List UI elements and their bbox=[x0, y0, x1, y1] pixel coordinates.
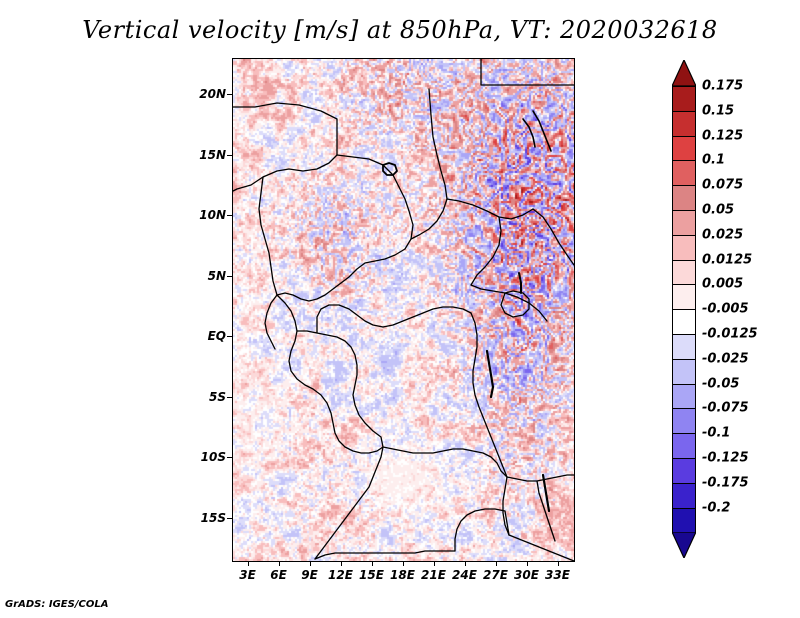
x-axis-tick-mark bbox=[465, 561, 466, 566]
grads-plot-page: Vertical velocity [m/s] at 850hPa, VT: 2… bbox=[0, 0, 800, 618]
colorbar-tick-label: 0.1 bbox=[702, 153, 725, 168]
colorbar-tick-label: -0.125 bbox=[702, 451, 749, 466]
y-axis-tick-mark bbox=[227, 276, 232, 277]
colorbar-tick-label: -0.0125 bbox=[702, 327, 758, 342]
colorbar-band bbox=[672, 334, 696, 360]
y-axis-tick-label: 5N bbox=[188, 269, 226, 283]
y-axis-tick-label: 5S bbox=[188, 390, 226, 404]
colorbar-tick-label: -0.175 bbox=[702, 475, 749, 490]
colorbar-band bbox=[672, 384, 696, 410]
colorbar-band bbox=[672, 185, 696, 211]
colorbar-band bbox=[672, 408, 696, 434]
x-axis-tick-label: 18E bbox=[390, 568, 415, 582]
colorbar-band bbox=[672, 260, 696, 286]
y-axis-tick-mark bbox=[227, 336, 232, 337]
y-axis-tick-mark bbox=[227, 155, 232, 156]
y-axis-tick-mark bbox=[227, 397, 232, 398]
colorbar-band bbox=[672, 86, 696, 112]
colorbar-band bbox=[672, 508, 696, 534]
colorbar-tick-label: 0.175 bbox=[702, 79, 743, 94]
page-title: Vertical velocity [m/s] at 850hPa, VT: 2… bbox=[0, 16, 800, 44]
x-axis-tick-label: 6E bbox=[270, 568, 287, 582]
x-axis-tick-label: 27E bbox=[483, 568, 508, 582]
colorbar-band bbox=[672, 359, 696, 385]
colorbar-bottom-arrow bbox=[672, 532, 696, 558]
colorbar-tick-label: -0.1 bbox=[702, 426, 730, 441]
attribution-footer: GrADS: IGES/COLA bbox=[5, 599, 108, 610]
colorbar-band bbox=[672, 111, 696, 137]
x-axis-tick-label: 15E bbox=[359, 568, 384, 582]
y-axis-tick-mark bbox=[227, 94, 232, 95]
x-axis-tick-label: 21E bbox=[421, 568, 446, 582]
colorbar-tick-label: 0.05 bbox=[702, 203, 734, 218]
country-borders-overlay bbox=[233, 59, 574, 561]
x-axis-tick-mark bbox=[310, 561, 311, 566]
colorbar-tick-label: 0.15 bbox=[702, 103, 734, 118]
colorbar-tick-label: 0.075 bbox=[702, 178, 743, 193]
y-axis-tick-mark bbox=[227, 215, 232, 216]
x-axis-tick-mark bbox=[527, 561, 528, 566]
colorbar-tick-label: -0.005 bbox=[702, 302, 749, 317]
colorbar-band bbox=[672, 433, 696, 459]
x-axis-tick-label: 12E bbox=[328, 568, 353, 582]
colorbar-tick-label: 0.0125 bbox=[702, 252, 752, 267]
colorbar-band bbox=[672, 210, 696, 236]
colorbar-band bbox=[672, 309, 696, 335]
x-axis-tick-label: 9E bbox=[301, 568, 318, 582]
x-axis-tick-mark bbox=[279, 561, 280, 566]
y-axis-tick-mark bbox=[227, 457, 232, 458]
colorbar-tick-label: -0.075 bbox=[702, 401, 749, 416]
x-axis-tick-mark bbox=[558, 561, 559, 566]
y-axis-tick-label: EQ bbox=[188, 329, 226, 343]
x-axis-tick-mark bbox=[248, 561, 249, 566]
y-axis-tick-label: 15N bbox=[188, 148, 226, 162]
colorbar-band bbox=[672, 160, 696, 186]
colorbar-tick-label: 0.005 bbox=[702, 277, 743, 292]
y-axis-tick-label: 10N bbox=[188, 208, 226, 222]
x-axis-tick-mark bbox=[403, 561, 404, 566]
colorbar-band bbox=[672, 136, 696, 162]
x-axis-tick-label: 24E bbox=[452, 568, 477, 582]
colorbar-tick-label: -0.05 bbox=[702, 376, 739, 391]
y-axis-tick-mark bbox=[227, 518, 232, 519]
colorbar-band bbox=[672, 235, 696, 261]
y-axis-tick-label: 15S bbox=[188, 511, 226, 525]
y-axis-tick-label: 20N bbox=[188, 87, 226, 101]
colorbar-band bbox=[672, 483, 696, 509]
x-axis-tick-mark bbox=[372, 561, 373, 566]
x-axis-tick-label: 33E bbox=[545, 568, 570, 582]
x-axis-tick-label: 30E bbox=[514, 568, 539, 582]
map-plot-area[interactable] bbox=[232, 58, 575, 562]
colorbar-band bbox=[672, 284, 696, 310]
x-axis-tick-mark bbox=[434, 561, 435, 566]
x-axis-tick-mark bbox=[496, 561, 497, 566]
x-axis-tick-label: 3E bbox=[239, 568, 256, 582]
x-axis-tick-mark bbox=[341, 561, 342, 566]
colorbar-tick-label: 0.125 bbox=[702, 128, 743, 143]
colorbar-tick-label: 0.025 bbox=[702, 227, 743, 242]
colorbar-tick-label: -0.025 bbox=[702, 351, 749, 366]
colorbar-top-arrow bbox=[672, 60, 696, 86]
colorbar-tick-label: -0.2 bbox=[702, 500, 730, 515]
y-axis-tick-label: 10S bbox=[188, 450, 226, 464]
colorbar-band bbox=[672, 458, 696, 484]
